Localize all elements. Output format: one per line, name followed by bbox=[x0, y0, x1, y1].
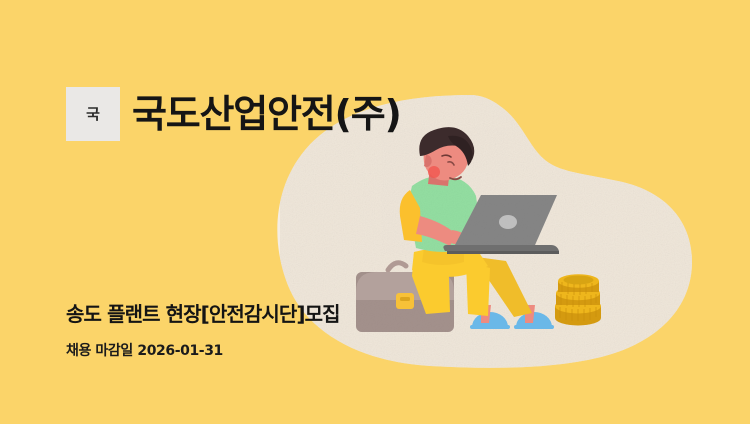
company-logo-char: 국 bbox=[86, 107, 100, 122]
brand-row: 국 국도산업안전(주) bbox=[66, 70, 401, 159]
person bbox=[400, 127, 532, 317]
laptop bbox=[443, 195, 559, 254]
job-info-block: 송도 플랜트 현장[안전감시단]모집 채용 마감일 2026-01-31 bbox=[66, 303, 340, 360]
job-title: 송도 플랜트 현장[안전감시단]모집 bbox=[66, 303, 340, 326]
company-logo: 국 bbox=[66, 87, 120, 141]
application-deadline: 채용 마감일 2026-01-31 bbox=[66, 340, 340, 360]
illustration-artwork bbox=[0, 0, 750, 424]
coin-stack bbox=[555, 274, 601, 325]
company-name: 국도산업안전(주) bbox=[132, 95, 401, 133]
job-posting-banner: 국 국도산업안전(주) 송도 플랜트 현장[안전감시단]모집 채용 마감일 20… bbox=[0, 0, 750, 424]
briefcase bbox=[356, 263, 454, 332]
shoes bbox=[470, 305, 554, 329]
